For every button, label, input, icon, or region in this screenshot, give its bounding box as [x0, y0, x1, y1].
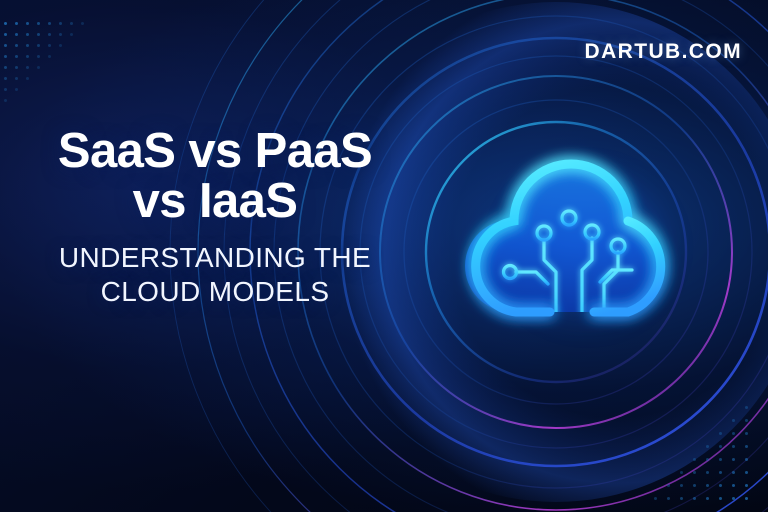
grid-dot [706, 497, 709, 500]
grid-dot [667, 484, 670, 487]
page-subtitle: UNDERSTANDING THE CLOUD MODELS [0, 241, 430, 309]
grid-dot [719, 432, 722, 435]
grid-dot [719, 458, 722, 461]
grid-dot [37, 66, 40, 69]
grid-dot [654, 497, 657, 500]
grid-dot [719, 484, 722, 487]
grid-dot [745, 471, 748, 474]
grid-dot [693, 484, 696, 487]
headline-line-2: vs IaaS [0, 176, 430, 226]
grid-dot [732, 432, 735, 435]
grid-dot [706, 445, 709, 448]
subtitle-line-2: CLOUD MODELS [0, 275, 430, 309]
grid-dot [745, 432, 748, 435]
grid-dot [4, 99, 7, 102]
grid-dot [732, 458, 735, 461]
grid-dot [26, 77, 29, 80]
grid-dot [26, 22, 29, 25]
grid-dot [4, 44, 7, 47]
grid-dot [719, 471, 722, 474]
grid-dot [59, 22, 62, 25]
grid-dot [59, 33, 62, 36]
grid-dot [4, 66, 7, 69]
grid-dot [693, 471, 696, 474]
grid-dot [680, 484, 683, 487]
grid-dot [745, 484, 748, 487]
grid-dot [706, 471, 709, 474]
grid-dot [719, 497, 722, 500]
brand-logo: DARTUB.COM [585, 40, 742, 64]
grid-dot [4, 22, 7, 25]
grid-dot [15, 77, 18, 80]
cloud-circuit-icon [432, 120, 732, 380]
grid-dot [37, 55, 40, 58]
grid-dot [15, 33, 18, 36]
cloud-fill [465, 164, 662, 312]
grid-dot [745, 458, 748, 461]
subtitle-line-1: UNDERSTANDING THE [59, 242, 371, 273]
grid-dot [732, 419, 735, 422]
page-title: SaaS vs PaaS vs IaaS [0, 126, 430, 227]
grid-dot [37, 33, 40, 36]
grid-dot [15, 88, 18, 91]
grid-dot [680, 471, 683, 474]
grid-dot [37, 44, 40, 47]
grid-dot [26, 44, 29, 47]
grid-dot [732, 484, 735, 487]
grid-dot [15, 66, 18, 69]
grid-dot [26, 55, 29, 58]
grid-dot [48, 33, 51, 36]
grid-dot [745, 419, 748, 422]
grid-dot [70, 33, 73, 36]
grid-dot [15, 44, 18, 47]
grid-dot [706, 484, 709, 487]
grid-dot [15, 55, 18, 58]
grid-dot [37, 22, 40, 25]
circuit-tails [556, 316, 604, 372]
grid-dot [680, 497, 683, 500]
grid-dot [693, 458, 696, 461]
grid-dot [81, 22, 84, 25]
grid-dot [26, 33, 29, 36]
grid-dot [15, 22, 18, 25]
grid-dot [4, 33, 7, 36]
grid-dot [48, 55, 51, 58]
grid-dot [745, 445, 748, 448]
grid-dot [48, 44, 51, 47]
grid-dot [4, 88, 7, 91]
grid-dot [732, 471, 735, 474]
grid-dot [26, 66, 29, 69]
poster-canvas: DARTUB.COM SaaS vs PaaS vs IaaS UNDERSTA… [0, 0, 768, 512]
grid-dot [4, 77, 7, 80]
grid-dot [719, 445, 722, 448]
hero-text-block: SaaS vs PaaS vs IaaS UNDERSTANDING THE C… [0, 126, 430, 309]
grid-dot [732, 497, 735, 500]
headline-line-1: SaaS vs PaaS [58, 124, 372, 178]
grid-dot [706, 458, 709, 461]
grid-dot [59, 44, 62, 47]
grid-dot [70, 22, 73, 25]
grid-dot [693, 497, 696, 500]
grid-dot [4, 55, 7, 58]
grid-dot [732, 445, 735, 448]
grid-dot [745, 406, 748, 409]
grid-dot [667, 497, 670, 500]
grid-dot [48, 22, 51, 25]
dot-grid-bottom-right [648, 402, 768, 512]
grid-dot [745, 497, 748, 500]
